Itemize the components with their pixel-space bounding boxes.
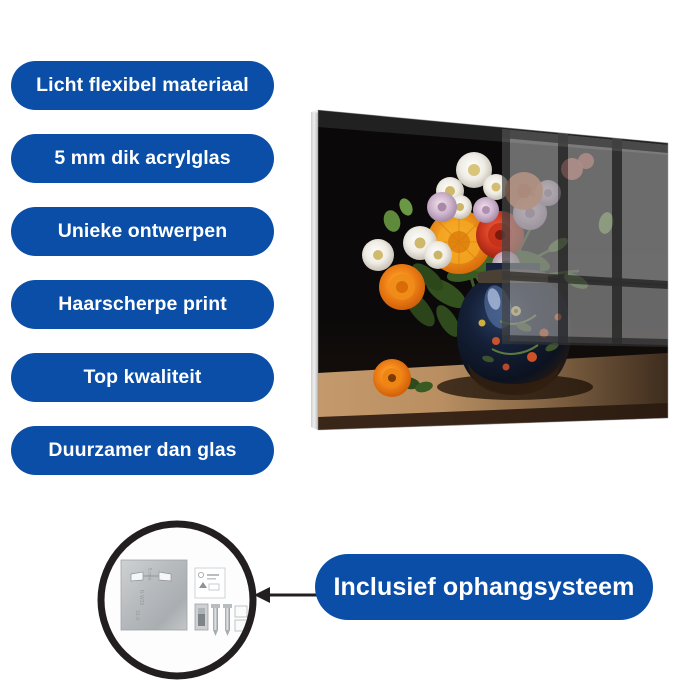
hanging-system-label: Inclusief ophangsysteem xyxy=(334,575,635,600)
hanging-system-callout: 5 mm R W33 31 d xyxy=(95,518,260,683)
hanging-system-pill[interactable]: Inclusief ophangsysteem xyxy=(315,554,653,620)
feature-label: Top kwaliteit xyxy=(84,368,202,388)
feature-pill-6[interactable]: Duurzamer dan glas xyxy=(11,426,274,475)
feature-pill-3[interactable]: Unieke ontwerpen xyxy=(11,207,274,256)
feature-pill-2[interactable]: 5 mm dik acrylglas xyxy=(11,134,274,183)
hanging-system-photo: 5 mm R W33 31 d xyxy=(95,518,260,683)
flower-marigold-left xyxy=(379,264,425,310)
panel-artwork xyxy=(300,95,690,455)
mounting-plate: 5 mm R W33 31 d xyxy=(121,560,187,630)
panel-svg xyxy=(300,95,690,455)
svg-text:5 mm: 5 mm xyxy=(146,568,152,581)
feature-label: Duurzamer dan glas xyxy=(48,441,236,461)
feature-label: Unieke ontwerpen xyxy=(58,222,228,242)
feature-label: Licht flexibel materiaal xyxy=(36,76,249,96)
feature-label: 5 mm dik acrylglas xyxy=(54,149,230,169)
feature-label: Haarscherpe print xyxy=(58,295,227,315)
panel-thickness-edge xyxy=(311,110,318,430)
wall-plug xyxy=(195,604,208,630)
feature-pill-5[interactable]: Top kwaliteit xyxy=(11,353,274,402)
instruction-sheet xyxy=(195,568,225,598)
callout-svg: 5 mm R W33 31 d xyxy=(95,518,260,683)
feature-pill-1[interactable]: Licht flexibel materiaal xyxy=(11,61,274,110)
svg-text:31 d: 31 d xyxy=(134,610,140,620)
svg-text:R W33: R W33 xyxy=(138,590,144,606)
window-reflection xyxy=(502,129,668,347)
product-feature-graphic: Licht flexibel materiaal 5 mm dik acrylg… xyxy=(0,0,700,700)
acrylic-panel-mockup xyxy=(300,95,690,455)
feature-pill-4[interactable]: Haarscherpe print xyxy=(11,280,274,329)
arrow-head-left-icon xyxy=(254,587,270,603)
